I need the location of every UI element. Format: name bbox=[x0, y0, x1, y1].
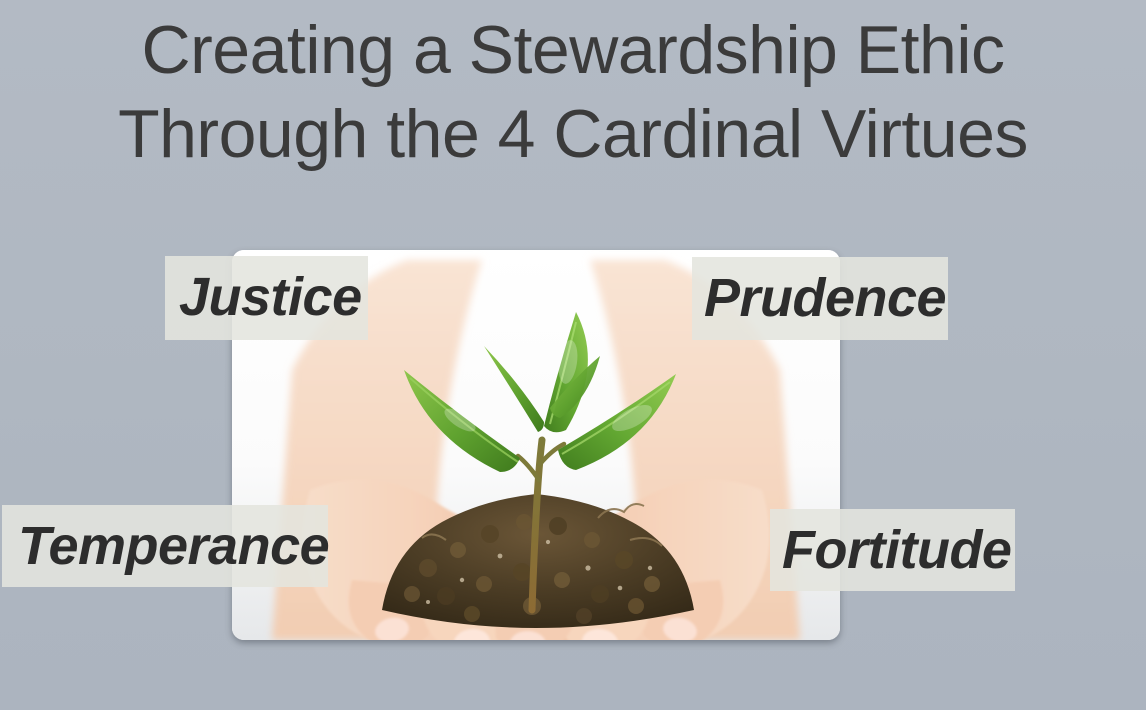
virtue-label-fortitude[interactable]: Fortitude bbox=[770, 509, 1015, 591]
virtue-label-justice[interactable]: Justice bbox=[165, 256, 368, 340]
page-title: Creating a Stewardship Ethic Through the… bbox=[0, 8, 1146, 176]
slide-canvas: Creating a Stewardship Ethic Through the… bbox=[0, 0, 1146, 710]
virtue-label-temperance[interactable]: Temperance bbox=[2, 505, 328, 587]
virtue-label-prudence[interactable]: Prudence bbox=[692, 257, 948, 340]
